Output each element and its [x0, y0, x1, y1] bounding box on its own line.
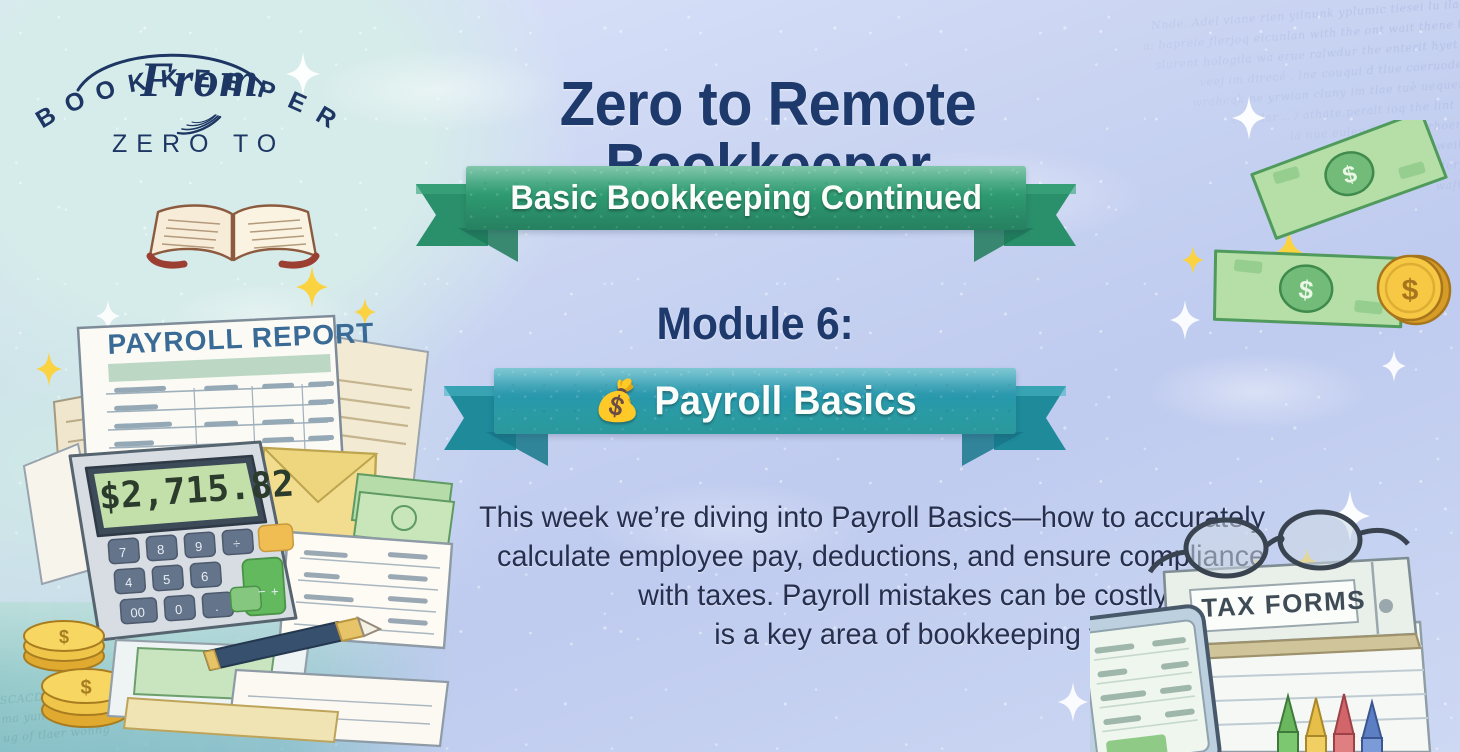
svg-text:6: 6	[201, 569, 209, 584]
smartphone	[1090, 605, 1221, 752]
tax-forms-illustration: TAX FORMS	[1090, 502, 1460, 752]
module-label: Module 6:	[460, 298, 1051, 350]
svg-text:÷: ÷	[233, 536, 241, 551]
ribbon-fold-left-icon	[458, 228, 518, 267]
svg-text:0: 0	[175, 602, 183, 617]
cash-stack	[352, 474, 454, 546]
logo-word-zero-to: ZERO TO	[112, 130, 285, 159]
ribbon-fold-left-icon	[486, 432, 548, 471]
svg-text:7: 7	[119, 545, 127, 560]
calculator: $2,715.82	[70, 442, 296, 640]
poster-canvas: Nnde. Adel viane rien yilnunk yplumic ti…	[0, 0, 1460, 752]
ribbon-fold-right-icon	[962, 432, 1024, 471]
logo-bookkeeper-letter: K	[160, 64, 180, 94]
logo-bookkeeper-letter: B	[31, 101, 61, 135]
brand-logo[interactable]: From ZERO TO BOOKKEEPER	[36, 18, 336, 268]
logo-bookkeeper-letter: E	[283, 86, 310, 119]
logo-bookkeeper-letter: E	[193, 65, 211, 95]
payroll-desk-illustration: PAYROLL REPORT	[8, 296, 468, 752]
bottom-documents	[108, 640, 448, 746]
ribbon-label-text: Basic Bookkeeping Continued	[510, 179, 982, 218]
svg-text:$: $	[59, 627, 69, 647]
floating-money-illustration: $ $ $	[1160, 120, 1460, 350]
ribbon-band: Basic Bookkeeping Continued	[466, 166, 1026, 230]
ribbon-label-text: Payroll Basics	[654, 379, 916, 424]
svg-text:9: 9	[195, 539, 203, 554]
svg-text:5: 5	[163, 572, 171, 587]
ribbon-label-wrap: 💰 Payroll Basics	[593, 379, 916, 424]
ribbon-band: 💰 Payroll Basics	[494, 368, 1016, 434]
svg-text:8: 8	[157, 542, 165, 557]
svg-text:−: −	[257, 584, 266, 599]
ribbon-payroll-basics: 💰 Payroll Basics	[444, 368, 1066, 468]
ribbon-label-wrap: Basic Bookkeeping Continued	[510, 179, 982, 218]
dollar-bill: $	[1248, 120, 1449, 240]
ribbon-fold-right-icon	[974, 228, 1034, 267]
svg-text:4: 4	[125, 575, 133, 590]
svg-text:$: $	[80, 677, 91, 699]
ribbon-basic-bookkeeping: Basic Bookkeeping Continued	[416, 166, 1076, 264]
svg-text:$: $	[1402, 274, 1419, 307]
money-bag-icon: 💰	[593, 381, 641, 421]
svg-text:+: +	[270, 584, 279, 599]
open-book-icon	[144, 200, 324, 275]
svg-text:00: 00	[130, 605, 145, 621]
